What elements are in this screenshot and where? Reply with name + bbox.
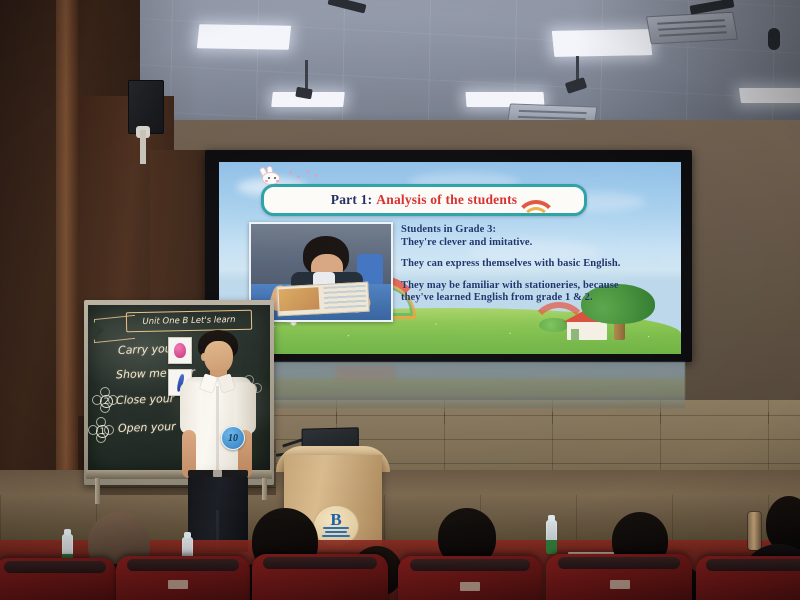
seat-number-plate [460,582,480,591]
theater-seat [546,554,692,600]
left-wall-trim [56,0,78,540]
seat-headrest [263,557,377,569]
contestant-badge: 10 [221,426,245,450]
theater-seat [398,556,542,600]
slide-line: they've learned English from grade 1 & 2… [401,292,663,305]
chalk-flower-number: 2 [100,395,113,408]
confetti-dot [289,171,292,174]
seat-headrest [127,559,240,571]
presentation-screen[interactable]: Part 1 : Analysis of the students Studen… [219,162,681,354]
confetti-dot [306,170,309,173]
seat-headrest [558,557,681,569]
tumbler-cup [748,512,761,550]
house-door-shape [571,329,579,340]
blackboard-line: Close your [116,392,175,407]
theater-seat [252,554,388,600]
chalk-flower-number: 1 [96,425,109,438]
seat-headrest [706,559,800,571]
chalk-flower-icon: 2 [92,387,118,413]
confetti-dot [297,175,300,178]
classroom-presentation-photo: Part 1 : Analysis of the students Studen… [0,0,800,600]
podium-logo-letter: B [330,513,341,527]
presenter-sleeve [180,382,202,434]
slide-line: They may be familiar with stationeries, … [401,280,663,293]
blackboard-leg [95,478,100,504]
slide-line: They can express themselves with basic E… [401,258,663,271]
screen-reflection [215,362,685,408]
blackboard-banner: Unit One B Let's learn [126,310,252,333]
chalk-flower-icon: 1 [88,417,114,443]
water-bottle [546,520,557,554]
speaker-mount-arm [140,130,146,164]
seat-headrest [410,559,531,571]
blackboard-banner-text: Unit One B Let's learn [142,315,235,327]
slide-body-text: Students in Grade 3: They're clever and … [401,224,663,305]
seat-number-plate [168,580,188,589]
theater-seat [116,556,250,600]
confetti-dot [314,174,317,177]
slide-line: They're clever and imitative. [401,237,663,250]
shirt-placket [216,386,219,472]
seat-number-plate [610,580,630,589]
blackboard-line: Open your [118,420,176,435]
theater-seat [696,556,800,600]
blackboard-leg [262,478,267,500]
belt-buckle [213,470,222,477]
theater-seat [0,558,116,600]
slide-title-main: Analysis of the students [376,192,517,208]
textbook-shape [276,282,369,317]
podium-logo-bars [322,527,350,539]
slide-title-separator: : [368,192,373,208]
seat-headrest [4,561,107,573]
slide-line: Students in Grade 3: [401,224,663,237]
slide-title-prefix: Part 1 [331,192,368,208]
